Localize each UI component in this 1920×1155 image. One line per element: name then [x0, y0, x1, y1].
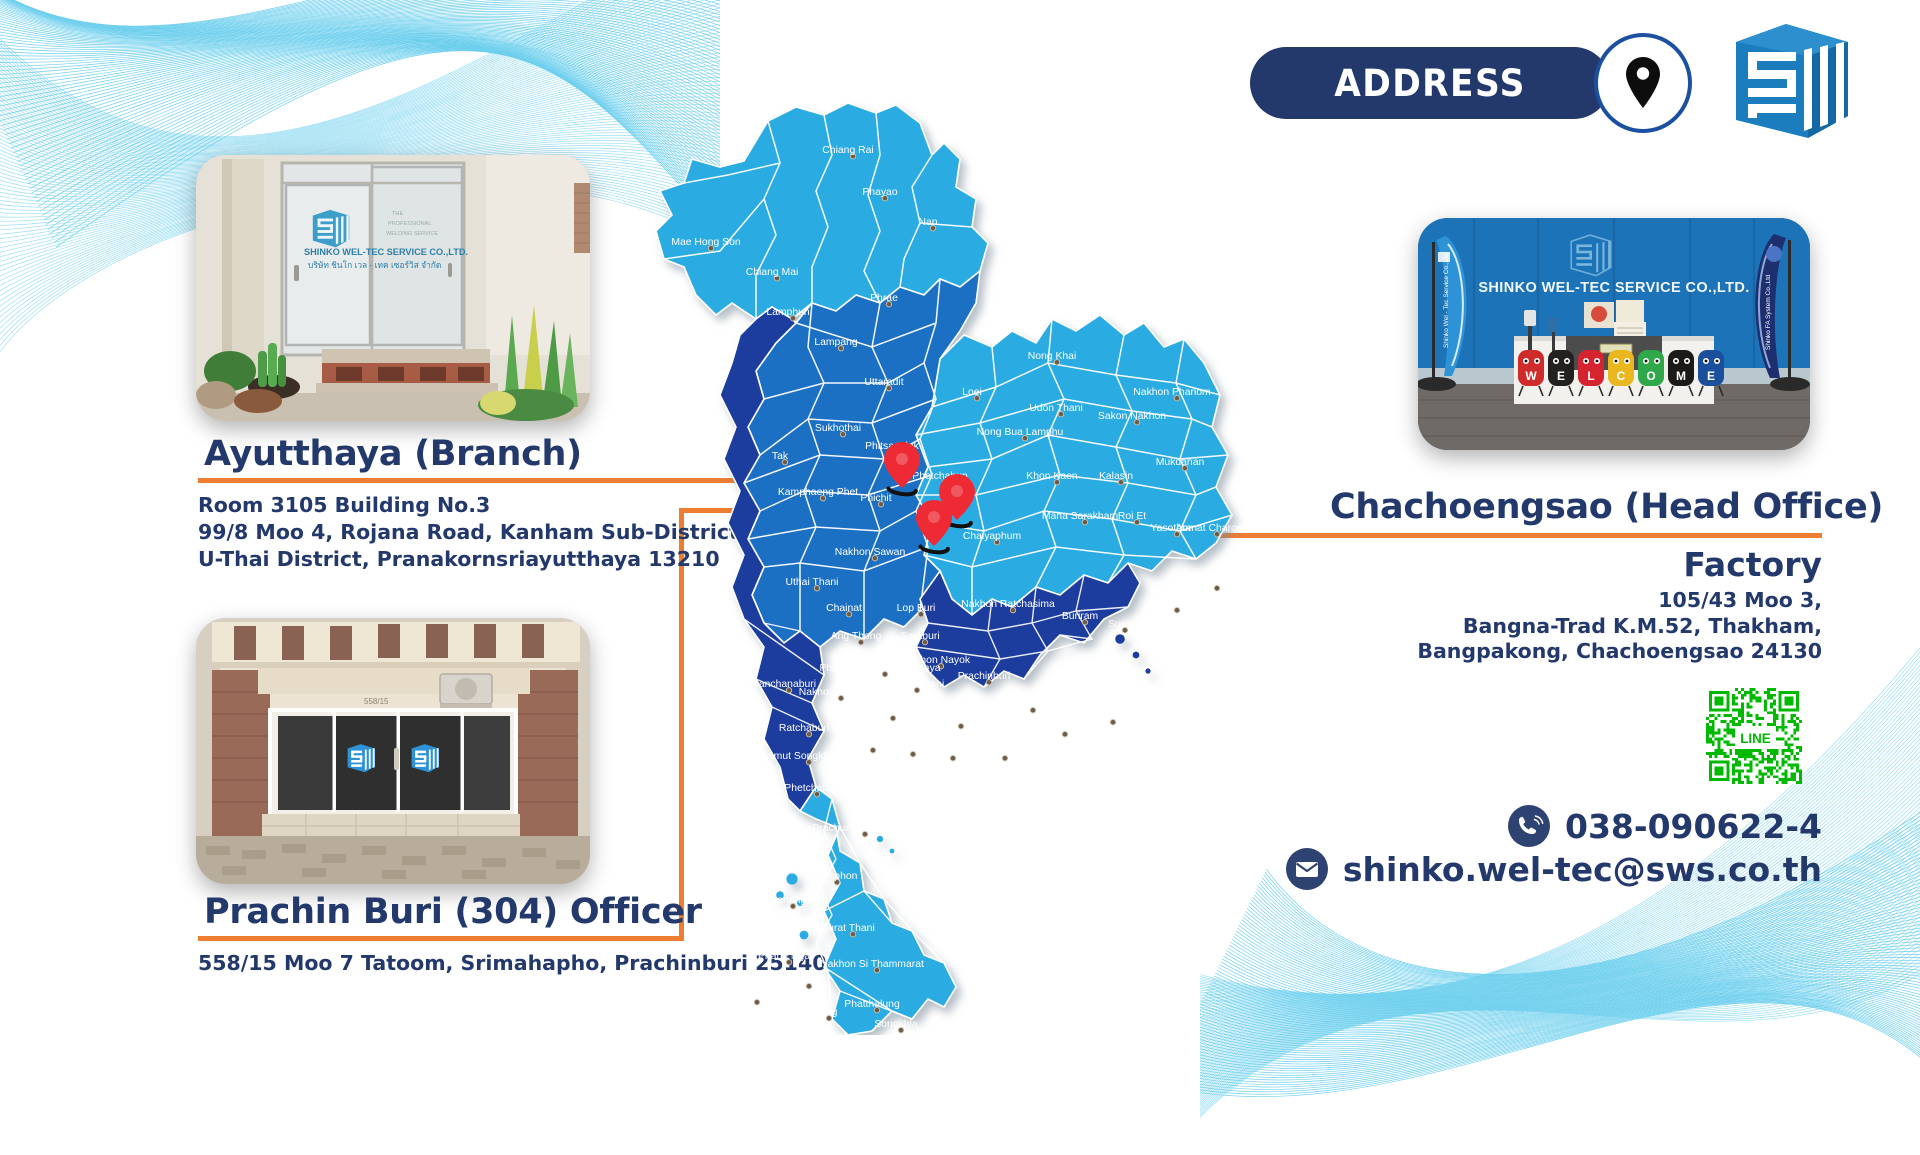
svg-text:PROFESSIONAL: PROFESSIONAL [388, 221, 432, 227]
svg-text:Nong Bua Lamphu: Nong Bua Lamphu [977, 427, 1064, 438]
svg-text:Phayao: Phayao [862, 187, 897, 198]
svg-text:Phuket: Phuket [736, 991, 768, 1002]
svg-text:Trat: Trat [1099, 711, 1117, 722]
svg-text:Mae Hong Son: Mae Hong Son [671, 237, 741, 248]
svg-text:Kalasin: Kalasin [1099, 471, 1133, 482]
svg-text:Ubon Ratchathani: Ubon Ratchathani [1170, 577, 1253, 588]
svg-text:Phang Nga: Phang Nga [758, 951, 810, 962]
svg-text:Shinko Wel - Tec Service Co.,L: Shinko Wel - Tec Service Co.,Ltd [1443, 253, 1450, 348]
svg-text:Saraburi: Saraburi [900, 631, 939, 642]
svg-text:Lamphun: Lamphun [766, 307, 810, 318]
svg-text:O: O [1646, 369, 1655, 383]
svg-text:Chiang Rai: Chiang Rai [822, 145, 873, 156]
svg-text:Uttaradit: Uttaradit [864, 377, 903, 388]
address-line: Bangna-Trad K.M.52, Thakham, [1417, 614, 1822, 640]
svg-text:Amnat Charoen: Amnat Charoen [1176, 523, 1249, 534]
ayutthaya-underline [198, 478, 672, 483]
phone-contact[interactable]: 038-090622-4 [1508, 805, 1822, 847]
svg-text:Mukdahan: Mukdahan [1156, 457, 1205, 468]
prachinburi-office-photo[interactable]: 558/15 [196, 618, 590, 884]
svg-text:M: M [1676, 369, 1686, 383]
svg-text:Shinko FA System Co.,Ltd: Shinko FA System Co.,Ltd [1765, 274, 1772, 350]
svg-text:Lampang: Lampang [814, 337, 858, 348]
svg-text:C: C [1617, 369, 1626, 383]
svg-text:Sa Kaeo: Sa Kaeo [1008, 699, 1048, 710]
address-line: Bangpakong, Chachoengsao 24130 [1417, 639, 1822, 665]
svg-text:Maha Sarakham: Maha Sarakham [1042, 511, 1118, 522]
svg-text:Prachuap Khiri Khan: Prachuap Khiri Khan [812, 823, 908, 834]
shinko-sw-cube-logo [1712, 16, 1860, 144]
svg-text:Sukhothai: Sukhothai [815, 423, 861, 434]
svg-text:Lop Buri: Lop Buri [897, 603, 936, 614]
email-contact[interactable]: shinko.wel-tec@sws.co.th [1286, 848, 1822, 890]
map-pin-chachoengsao[interactable] [912, 498, 956, 556]
address-poster: Chiang RaiMae Hong SonChiang MaiPhayaoNa… [0, 0, 1920, 1080]
svg-text:Nakhon Sawan: Nakhon Sawan [835, 547, 906, 558]
svg-text:Tak: Tak [772, 451, 789, 462]
svg-text:Udon Thani: Udon Thani [1029, 403, 1083, 414]
svg-text:Krabi: Krabi [792, 975, 816, 986]
svg-text:Chanthaburi: Chanthaburi [1032, 723, 1089, 734]
svg-text:W: W [1525, 369, 1537, 383]
chachoengsao-head-office-photo[interactable]: SHINKO WEL-TEC SERVICE CO.,LTD. [1418, 218, 1810, 450]
ayutthaya-branch-photo[interactable]: SHINKO WEL-TEC SERVICE CO.,LTD. บริษัท ช… [196, 155, 590, 421]
thailand-province-map[interactable]: Chiang RaiMae Hong SonChiang MaiPhayaoNa… [640, 95, 1260, 1035]
svg-text:Roi Et: Roi Et [1118, 511, 1146, 522]
svg-text:Nakhon Phanom: Nakhon Phanom [1133, 387, 1210, 398]
svg-text:Chumphon: Chumphon [807, 871, 858, 882]
svg-text:Kamphaeng Phet: Kamphaeng Phet [778, 487, 858, 498]
svg-text:Ranong: Ranong [770, 895, 807, 906]
phone-number: 038-090622-4 [1565, 807, 1822, 846]
svg-text:WELDING SERVICE: WELDING SERVICE [386, 231, 438, 237]
svg-text:Samut Songkhram: Samut Songkhram [761, 751, 847, 762]
svg-text:Nakhon Pathom: Nakhon Pathom [799, 687, 874, 698]
ayutthaya-title: Ayutthaya (Branch) [204, 434, 582, 474]
prachinburi-underline [198, 936, 684, 941]
prachinburi-title: Prachin Buri (304) Officer [204, 892, 702, 932]
svg-text:Buriram: Buriram [1062, 611, 1098, 622]
svg-text:Chaiyaphum: Chaiyaphum [963, 531, 1021, 542]
svg-text:Ang Thong: Ang Thong [831, 631, 882, 642]
location-pin-icon [1594, 33, 1692, 133]
svg-text:Nong Khai: Nong Khai [1028, 351, 1077, 362]
svg-text:L: L [1587, 369, 1594, 383]
svg-text:Surat Thani: Surat Thani [821, 923, 875, 934]
svg-text:Nan: Nan [918, 217, 937, 228]
svg-text:Sakon Nakhon: Sakon Nakhon [1098, 411, 1166, 422]
svg-text:Prachinburi: Prachinburi [958, 671, 1011, 682]
svg-text:Nakhon Si Thammarat: Nakhon Si Thammarat [820, 959, 924, 970]
address-banner-label: ADDRESS [1334, 62, 1526, 105]
phone-call-icon [1508, 805, 1550, 847]
svg-text:Nakhon Nayok: Nakhon Nayok [902, 655, 971, 666]
envelope-icon [1286, 848, 1328, 890]
svg-text:Uthai Thani: Uthai Thani [786, 577, 839, 588]
address-banner: ADDRESS [1250, 47, 1610, 119]
svg-text:Pathum Thani: Pathum Thani [880, 679, 945, 690]
svg-text:SHINKO WEL-TEC SERVICE CO.,LTD: SHINKO WEL-TEC SERVICE CO.,LTD. [1478, 280, 1749, 296]
chachoengsao-address: 105/43 Moo 3, Bangna-Trad K.M.52, Thakha… [1417, 588, 1822, 665]
svg-text:Ratchaburi: Ratchaburi [779, 723, 829, 734]
svg-text:Rayong: Rayong [982, 747, 1018, 758]
svg-text:Bangkok: Bangkok [868, 707, 909, 718]
svg-text:Chachoengsao: Chachoengsao [921, 715, 991, 726]
svg-text:558/15: 558/15 [364, 697, 389, 706]
svg-text:บริษัท ชินโก เวล - เทค เซอร์วิ: บริษัท ชินโก เวล - เทค เซอร์วิส จำกัด [308, 260, 441, 270]
svg-text:Phetchaburi: Phetchaburi [784, 783, 839, 794]
svg-text:Khon Kaen: Khon Kaen [1026, 471, 1078, 482]
svg-text:Songkhla: Songkhla [874, 1019, 918, 1030]
svg-text:Samut Prakan: Samut Prakan [875, 743, 941, 754]
qr-line-label: LINE [1740, 731, 1771, 746]
email-address: shinko.wel-tec@sws.co.th [1343, 850, 1822, 889]
svg-text:Loei: Loei [962, 387, 982, 398]
svg-text:Surin: Surin [1108, 619, 1132, 630]
svg-text:Phatthalung: Phatthalung [844, 999, 900, 1010]
map-pin-ayutthaya[interactable] [880, 440, 924, 498]
svg-text:Pattani: Pattani [916, 1027, 948, 1035]
svg-text:Nakhon Ratchasima: Nakhon Ratchasima [961, 599, 1055, 610]
svg-text:Chiang Mai: Chiang Mai [746, 267, 799, 278]
svg-text:Si Sa Ket: Si Sa Ket [1150, 599, 1193, 610]
svg-text:Trang: Trang [811, 1007, 838, 1018]
svg-text:Phrae: Phrae [870, 293, 898, 304]
factory-subtitle: Factory [1683, 545, 1822, 584]
svg-text:E: E [1707, 369, 1715, 383]
svg-text:Chainat: Chainat [826, 603, 862, 614]
chachoengsao-title: Chachoengsao (Head Office) [1330, 487, 1810, 527]
svg-text:E: E [1557, 369, 1565, 383]
svg-text:Satun: Satun [830, 1031, 857, 1035]
address-line: 105/43 Moo 3, [1417, 588, 1822, 614]
svg-text:SHINKO WEL-TEC SERVICE CO.,LTD: SHINKO WEL-TEC SERVICE CO.,LTD. [304, 247, 468, 257]
line-qr-code[interactable]: LINE [1706, 688, 1802, 784]
svg-text:THE: THE [392, 211, 403, 217]
